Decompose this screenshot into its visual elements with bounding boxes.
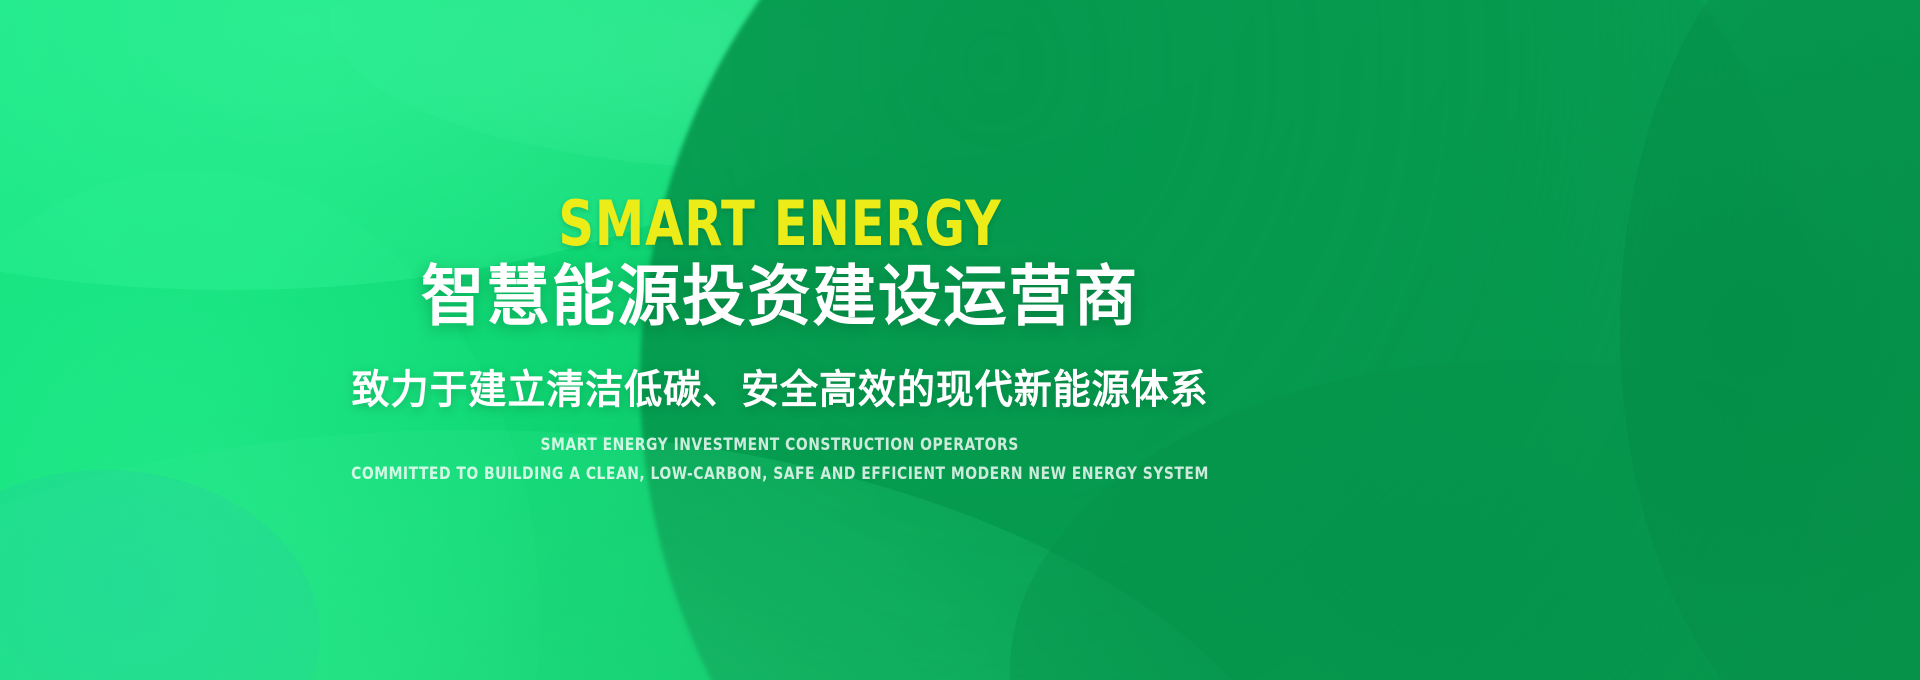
banner-eyebrow-english: SMART ENERGY (558, 193, 1001, 255)
background-blob-right-edge (1620, 0, 1920, 680)
banner-tagline-english-line1: SMART ENERGY INVESTMENT CONSTRUCTION OPE… (541, 432, 1019, 458)
banner-headline-chinese: 智慧能源投资建设运营商 (421, 261, 1139, 332)
banner-subheadline-chinese: 致力于建立清洁低碳、安全高效的现代新能源体系 (352, 366, 1209, 414)
hero-banner: SMART ENERGY 智慧能源投资建设运营商 致力于建立清洁低碳、安全高效的… (0, 0, 1920, 680)
banner-content: SMART ENERGY 智慧能源投资建设运营商 致力于建立清洁低碳、安全高效的… (0, 0, 1560, 680)
banner-tagline-english-line2: COMMITTED TO BUILDING A CLEAN, LOW-CARBO… (351, 461, 1209, 487)
